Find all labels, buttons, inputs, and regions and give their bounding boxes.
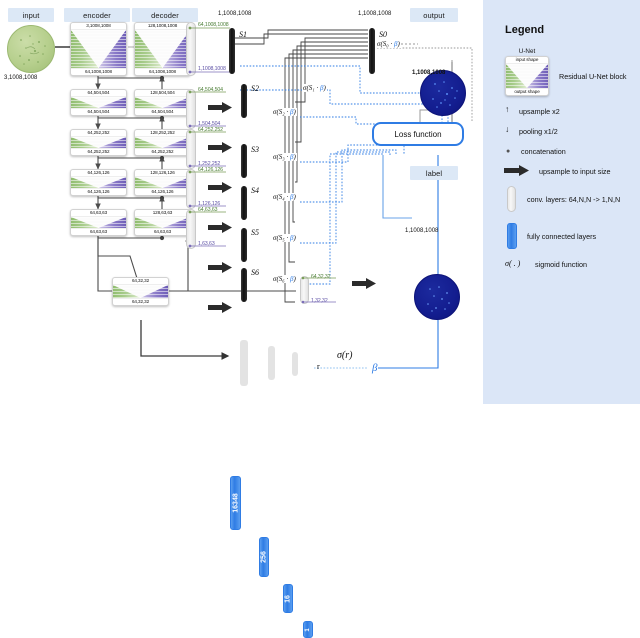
upsample-arrow-icon [352, 277, 382, 291]
unet-vee-graphic [506, 63, 548, 89]
upsample-arrow-icon [208, 181, 238, 195]
decoder-block-2-out: 64,252,252 [135, 149, 190, 155]
unet-vee-graphic [135, 176, 190, 189]
encoder-block-3-out: 64,126,126 [71, 189, 126, 195]
legend-concat-text: concatenation [521, 147, 566, 156]
decoder-block-3-out: 64,126,126 [135, 189, 190, 195]
encoder-block-0[interactable]: 3,1008,1008 64,1008,1008 [70, 22, 127, 76]
decoder-block-2[interactable]: 128,252,252 64,252,252 [134, 129, 191, 156]
input-shape-label: 3,1008,1008 [4, 75, 37, 81]
bottleneck-out: 64,32,32 [113, 299, 168, 305]
upsample-arrow-icon [208, 261, 238, 275]
decoder-block-4[interactable]: 128,63,63 64,63,63 [134, 209, 191, 236]
unet-vee-graphic [71, 216, 126, 229]
decoder-block-1[interactable]: 128,504,504 64,504,504 [134, 89, 191, 116]
fc-layer-3-label: 1 [305, 628, 311, 631]
legend-upsample-text: upsample x2 [519, 107, 560, 116]
column-title-label: label [410, 166, 458, 180]
output-image [420, 70, 466, 116]
encoder-block-2[interactable]: 64,252,252 64,252,252 [70, 129, 127, 156]
label-shape-label: 1,1008,1008 [405, 228, 438, 234]
loss-function-label: Loss function [394, 130, 441, 139]
bottleneck-block[interactable]: 64,32,32 64,32,32 [112, 277, 169, 306]
fc-layer-2[interactable]: 16 [283, 584, 293, 613]
down-arrow-icon: ↓ [505, 124, 509, 134]
unet-vee-graphic [71, 176, 126, 189]
fc-layer-0[interactable]: 16348 [230, 476, 241, 530]
score-label-S4: S4 [251, 186, 259, 195]
loss-function-box[interactable]: Loss function [372, 122, 464, 146]
unet-vee-graphic [71, 29, 126, 69]
sigmoid-label-S3: σ(S₃ · β) [272, 153, 297, 161]
upsample-arrow-icon [208, 101, 238, 115]
fc-output-r-label: r [317, 362, 320, 371]
score-label-S0: S0 [379, 30, 387, 39]
unet-vee-graphic [71, 136, 126, 149]
input-image [7, 25, 55, 73]
upsample-arrow-icon [208, 141, 238, 155]
sigmoid-label-S2: σ(S₂ · β) [272, 108, 297, 116]
unet-vee-graphic [135, 29, 190, 69]
score-label-S2: S2 [251, 84, 259, 93]
legend-conv-text: conv. layers: 64,N,N -> 1,N,N [527, 195, 620, 204]
fc-shadow [240, 340, 248, 386]
conv-stack-0-leads [186, 22, 246, 78]
encoder-block-4-out: 64,63,63 [71, 229, 126, 235]
legend-panel: Legend U-Net input shape output shape Re… [483, 0, 640, 404]
column-title-input: input [8, 8, 54, 22]
score-label-S1: S1 [239, 30, 247, 39]
decoder-block-0[interactable]: 128,1008,1008 64,1008,1008 [134, 22, 191, 76]
sigmoid-label-S0: σ(S₀ · β) [376, 40, 401, 48]
conv-stack-5-leads [300, 275, 350, 307]
thick-arrow-icon [504, 164, 534, 178]
score-label-S5: S5 [251, 228, 259, 237]
upsample-arrow-icon [208, 301, 238, 315]
score-bar-S3[interactable] [241, 144, 247, 178]
unet-vee-graphic [135, 96, 190, 109]
fc-layer-0-label: 16348 [232, 493, 239, 512]
fc-shadow [292, 352, 298, 376]
label-image [414, 274, 460, 320]
column-title-encoder: encoder [64, 8, 130, 22]
legend-unet-title: U-Net [505, 48, 549, 55]
score-bar-S4[interactable] [241, 186, 247, 220]
upsample-arrow-icon [208, 221, 238, 235]
encoder-block-1-out: 64,504,504 [71, 109, 126, 115]
sigma-r-label: σ(r) [337, 350, 352, 361]
column-title-decoder: decoder [132, 8, 198, 22]
legend-upsample-input-text: upsample to input size [539, 167, 611, 176]
decoder-block-1-out: 64,504,504 [135, 109, 190, 115]
up-arrow-icon: ↑ [505, 104, 509, 114]
beta-label: β [372, 362, 377, 374]
decoder-block-3[interactable]: 128,126,126 64,126,126 [134, 169, 191, 196]
unet-vee-graphic [135, 136, 190, 149]
score-bar-S2[interactable] [241, 84, 247, 118]
column-title-output: output [410, 8, 458, 22]
encoder-block-2-out: 64,252,252 [71, 149, 126, 155]
score-shape-S1: 1,1008,1008 [218, 11, 251, 17]
score-bar-S1[interactable] [229, 28, 235, 74]
concat-dot-icon: ● [506, 148, 510, 155]
decoder-block-0-out: 64,1008,1008 [135, 69, 190, 75]
legend-unet-description: Residual U-Net block [559, 72, 627, 81]
encoder-block-4[interactable]: 64,63,63 64,63,63 [70, 209, 127, 236]
fc-layer-2-label: 16 [285, 595, 292, 603]
score-bar-S5[interactable] [241, 228, 247, 262]
encoder-block-1[interactable]: 64,504,504 64,504,504 [70, 89, 127, 116]
unet-vee-graphic [135, 216, 190, 229]
legend-title: Legend [505, 24, 544, 36]
diagram-canvas: input encoder decoder output label 3,100… [0, 0, 640, 404]
output-shape-label: 1,1008,1008 [412, 70, 445, 76]
fc-layer-3[interactable]: 1 [303, 621, 313, 638]
fc-shadow [268, 346, 275, 380]
legend-fc-bar-icon [507, 223, 517, 249]
decoder-block-4-out: 64,63,63 [135, 229, 190, 235]
sigmoid-label-S6: σ(S₆ · β) [272, 275, 297, 283]
legend-pooling-text: pooling x1/2 [519, 127, 558, 136]
fc-layer-1-label: 256 [261, 551, 268, 563]
unet-vee-graphic [71, 96, 126, 109]
legend-unet-block: input shape output shape [505, 56, 549, 96]
sigmoid-label-S1: σ(S₁ · β) [302, 84, 327, 92]
score-shape-S0: 1,1008,1008 [358, 11, 391, 17]
legend-fc-text: fully connected layers [527, 232, 596, 241]
sigmoid-label-S5: σ(S₅ · β) [272, 234, 297, 242]
legend-unet-output-caption: output shape [506, 89, 548, 95]
legend-conv-pill-icon [507, 186, 516, 212]
sigma-icon: σ( . ) [505, 259, 520, 268]
score-label-S3: S3 [251, 145, 259, 154]
unet-vee-graphic [113, 284, 168, 299]
encoder-block-0-out: 64,1008,1008 [71, 69, 126, 75]
score-label-S6: S6 [251, 268, 259, 277]
legend-sigmoid-text: sigmoid function [535, 260, 587, 269]
score-bar-S0[interactable] [369, 28, 375, 74]
sigmoid-label-S4: σ(S₄ · β) [272, 193, 297, 201]
fc-layer-1[interactable]: 256 [259, 537, 269, 577]
encoder-block-3[interactable]: 64,126,126 64,126,126 [70, 169, 127, 196]
score-bar-S6[interactable] [241, 268, 247, 302]
